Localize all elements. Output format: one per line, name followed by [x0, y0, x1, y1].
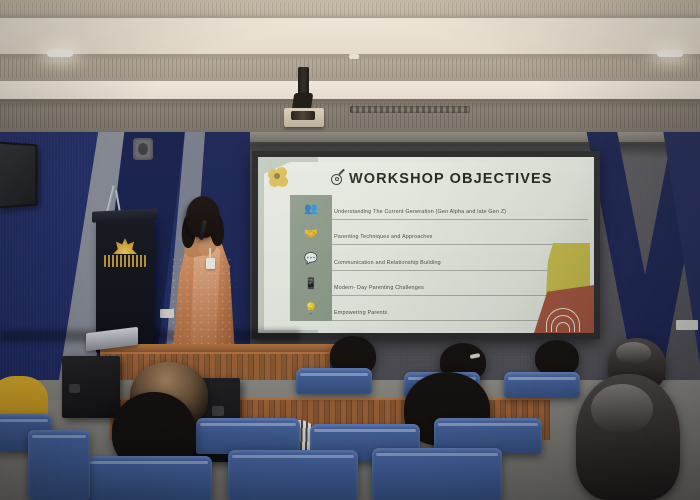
gold-flower-icon [268, 167, 288, 187]
objective-text: Parenting Techniques and Approaches [334, 234, 433, 240]
floor-speaker-left [62, 356, 120, 418]
ceiling-air-slot [350, 106, 470, 113]
slide-icon-column: 👥 🤝 💬 📱 💡 [290, 195, 332, 321]
auditorium-chair[interactable] [28, 430, 90, 500]
objective-text: Understanding The Current Generation (Ge… [334, 209, 506, 215]
auditorium-chair[interactable] [196, 418, 300, 454]
projector-icon [284, 67, 324, 127]
slide-objective-row: Understanding The Current Generation (Ge… [332, 195, 588, 220]
auditorium-chair[interactable] [228, 450, 358, 500]
auditorium-chair[interactable] [86, 456, 212, 500]
lightbulb-icon: 💡 [290, 296, 332, 321]
ceiling [0, 0, 700, 132]
slide-title: WORKSHOP OBJECTIVES [330, 171, 584, 187]
ceiling-light-right [657, 50, 683, 57]
people-icon: 👥 [290, 196, 332, 221]
presenter [162, 196, 242, 358]
auditorium-chair[interactable] [504, 372, 580, 398]
name-badge [206, 258, 215, 269]
auditorium-chair[interactable] [296, 368, 372, 394]
slide-title-text: WORKSHOP OBJECTIVES [349, 171, 553, 187]
wall-monitor [0, 142, 37, 209]
auditorium-photo: WORKSHOP OBJECTIVES 👥 🤝 💬 📱 💡 Understand… [0, 0, 700, 500]
wall-plate-right [676, 320, 698, 330]
hands-icon: 🤝 [290, 221, 332, 246]
ceiling-light-left [47, 50, 73, 57]
wall-speaker-icon [133, 138, 153, 160]
target-icon [330, 173, 343, 186]
speech-bubble-icon: 💬 [290, 246, 332, 271]
projection-screen: WORKSHOP OBJECTIVES 👥 🤝 💬 📱 💡 Understand… [252, 151, 600, 339]
objective-text: Communication and Relationship Building [334, 260, 441, 266]
presentation-slide: WORKSHOP OBJECTIVES 👥 🤝 💬 📱 💡 Understand… [258, 157, 594, 333]
slide-objective-row: Parenting Techniques and Approaches [332, 220, 588, 245]
institution-emblem-icon [104, 238, 146, 272]
objective-text: Modern- Day Parenting Challenges [334, 285, 424, 291]
white-rainbow-arcs-icon [544, 302, 588, 332]
ceiling-vent-dot [349, 54, 359, 59]
auditorium-chair[interactable] [372, 448, 502, 500]
objective-text: Empowering Parents [334, 310, 387, 316]
devices-icon: 📱 [290, 271, 332, 296]
